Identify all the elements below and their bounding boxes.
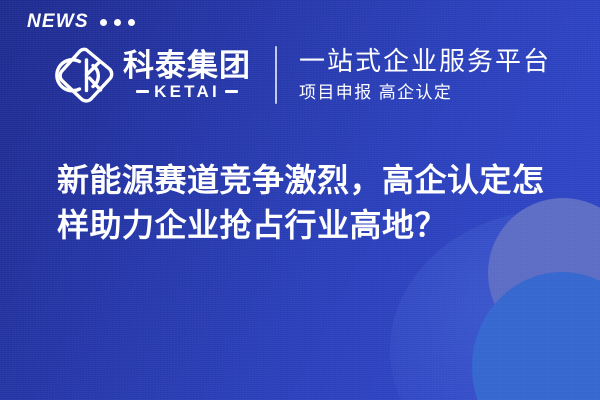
- tagline-main: 一站式企业服务平台: [299, 46, 551, 78]
- logo-wordmark: 科泰集团 KETAI: [123, 50, 251, 100]
- banner-content: NEWS 科泰集团: [0, 0, 600, 400]
- logo-dash-left-icon: [136, 90, 149, 93]
- ketai-diamond-kd-logo-icon: [55, 44, 117, 106]
- dot-icon: [128, 19, 135, 26]
- tagline-sub: 项目申报 高企认定: [299, 82, 551, 104]
- company-name-cn: 科泰集团: [123, 50, 251, 82]
- headline: 新能源赛道竞争激烈，高企认定怎样助力企业抢占行业高地？: [57, 158, 562, 249]
- news-banner: NEWS 科泰集团: [0, 0, 600, 400]
- brand-row: 科泰集团 KETAI 一站式企业服务平台 项目申报 高企认定: [55, 44, 551, 106]
- dot-icon: [114, 19, 121, 26]
- logo-en-row: KETAI: [123, 83, 251, 100]
- eyebrow: NEWS: [27, 12, 135, 31]
- logo-dash-right-icon: [225, 90, 238, 93]
- company-name-en: KETAI: [154, 83, 220, 100]
- brand-divider: [275, 46, 277, 104]
- eyebrow-label: NEWS: [27, 12, 89, 31]
- dot-icon: [100, 19, 107, 26]
- eyebrow-dots-icon: [100, 17, 135, 26]
- brand-tagline: 一站式企业服务平台 项目申报 高企认定: [299, 46, 551, 104]
